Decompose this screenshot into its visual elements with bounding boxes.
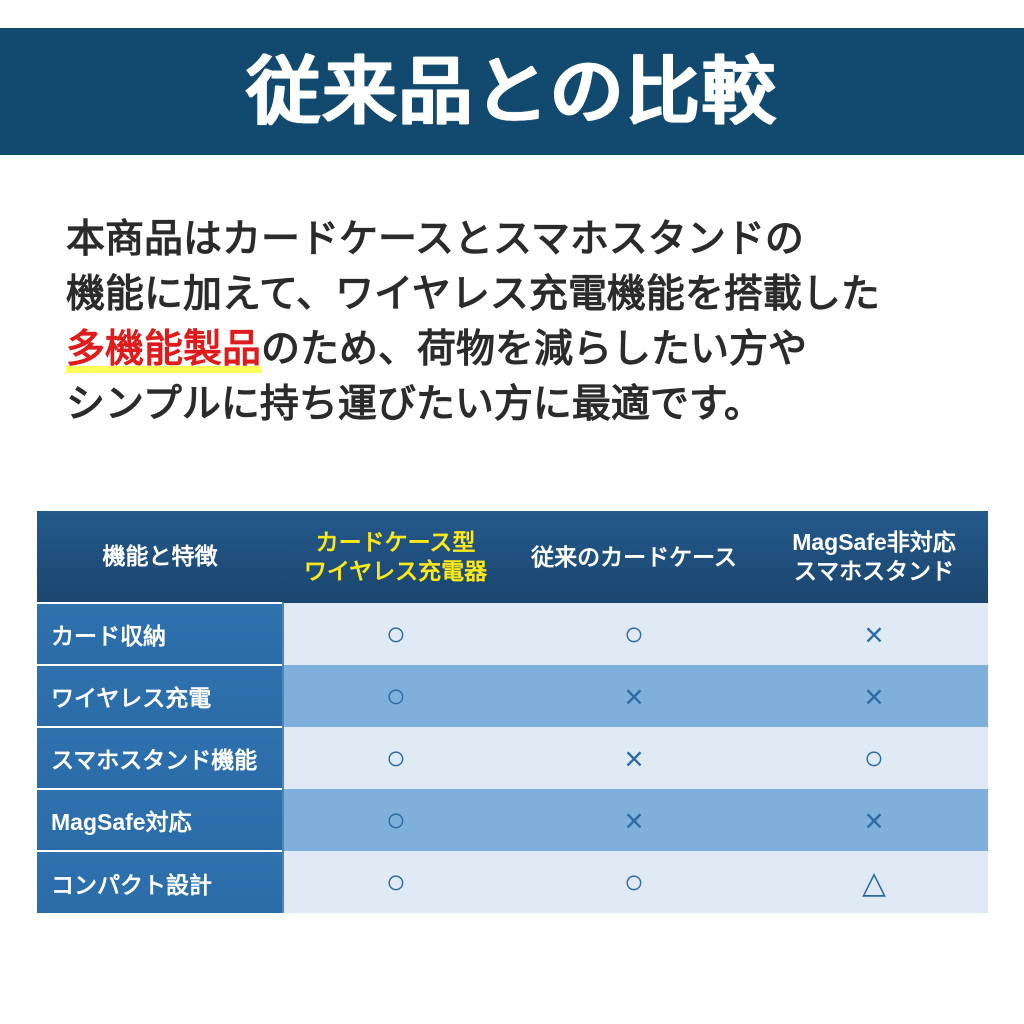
- cell-nonmagsafe-2: ○: [760, 727, 988, 789]
- cell-product-3: ○: [283, 789, 508, 851]
- lead-highlight: 多機能製品: [66, 328, 261, 373]
- page-title: 従来品との比較: [246, 55, 777, 129]
- col-header-product-line2: ワイヤレス充電器: [283, 557, 508, 586]
- mark-icon: ○: [386, 679, 407, 713]
- mark-icon: ×: [624, 742, 643, 775]
- mark-icon: ×: [624, 804, 643, 837]
- cell-legacy-1: ×: [508, 665, 760, 727]
- col-header-feature: 機能と特徴: [37, 511, 283, 603]
- cell-legacy-3: ×: [508, 789, 760, 851]
- mark-icon: ○: [386, 803, 407, 837]
- col-header-nonmagsafe-line2: スマホスタンド: [760, 557, 988, 586]
- mark-icon: ○: [386, 741, 407, 775]
- lead-paragraph: 本商品はカードケースとスマホスタンドの 機能に加えて、ワイヤレス充電機能を搭載し…: [66, 212, 966, 432]
- cell-nonmagsafe-1: ×: [760, 665, 988, 727]
- mark-icon: ○: [624, 617, 645, 651]
- mark-icon: ○: [386, 865, 407, 899]
- mark-icon: ×: [864, 618, 883, 651]
- col-header-product-line1: カードケース型: [283, 528, 508, 557]
- lead-after-highlight: のため、荷物を減らしたい方や: [261, 328, 807, 371]
- mark-icon: △: [862, 867, 886, 898]
- cell-legacy-2: ×: [508, 727, 760, 789]
- cell-nonmagsafe-4: △: [760, 851, 988, 913]
- table-body: カード収納 ○ ○ × ワイヤレス充電 ○ × × スマホスタンド機能 ○ × …: [37, 603, 988, 913]
- header-banner: 従来品との比較: [0, 28, 1024, 155]
- table-row: カード収納 ○ ○ ×: [37, 603, 988, 665]
- cell-product-4: ○: [283, 851, 508, 913]
- lead-line-3: 多機能製品のため、荷物を減らしたい方や: [66, 322, 966, 377]
- comparison-table: 機能と特徴 カードケース型 ワイヤレス充電器 従来のカードケース MagSafe…: [37, 511, 988, 913]
- row-label-stand-function: スマホスタンド機能: [37, 727, 283, 789]
- cell-nonmagsafe-3: ×: [760, 789, 988, 851]
- mark-icon: ○: [864, 741, 885, 775]
- mark-icon: ○: [386, 617, 407, 651]
- cell-product-1: ○: [283, 665, 508, 727]
- row-label-compact-design: コンパクト設計: [37, 851, 283, 913]
- row-label-magsafe-support: MagSafe対応: [37, 789, 283, 851]
- mark-icon: ×: [864, 680, 883, 713]
- table-row: コンパクト設計 ○ ○ △: [37, 851, 988, 913]
- cell-product-2: ○: [283, 727, 508, 789]
- mark-icon: ×: [864, 804, 883, 837]
- table-row: MagSafe対応 ○ × ×: [37, 789, 988, 851]
- cell-legacy-4: ○: [508, 851, 760, 913]
- table-header: 機能と特徴 カードケース型 ワイヤレス充電器 従来のカードケース MagSafe…: [37, 511, 988, 603]
- col-header-nonmagsafe-line1: MagSafe非対応: [760, 528, 988, 557]
- row-label-wireless-charging: ワイヤレス充電: [37, 665, 283, 727]
- lead-line-4: シンプルに持ち運びたい方に最適です。: [66, 377, 966, 432]
- cell-nonmagsafe-0: ×: [760, 603, 988, 665]
- col-header-nonmagsafe: MagSafe非対応 スマホスタンド: [760, 511, 988, 603]
- cell-product-0: ○: [283, 603, 508, 665]
- lead-line-1: 本商品はカードケースとスマホスタンドの: [66, 212, 966, 267]
- lead-line-2: 機能に加えて、ワイヤレス充電機能を搭載した: [66, 267, 966, 322]
- table-row: スマホスタンド機能 ○ × ○: [37, 727, 988, 789]
- mark-icon: ○: [624, 865, 645, 899]
- row-label-card-storage: カード収納: [37, 603, 283, 665]
- mark-icon: ×: [624, 680, 643, 713]
- cell-legacy-0: ○: [508, 603, 760, 665]
- col-header-legacy: 従来のカードケース: [508, 511, 760, 603]
- table-header-row: 機能と特徴 カードケース型 ワイヤレス充電器 従来のカードケース MagSafe…: [37, 511, 988, 603]
- col-header-product: カードケース型 ワイヤレス充電器: [283, 511, 508, 603]
- table-row: ワイヤレス充電 ○ × ×: [37, 665, 988, 727]
